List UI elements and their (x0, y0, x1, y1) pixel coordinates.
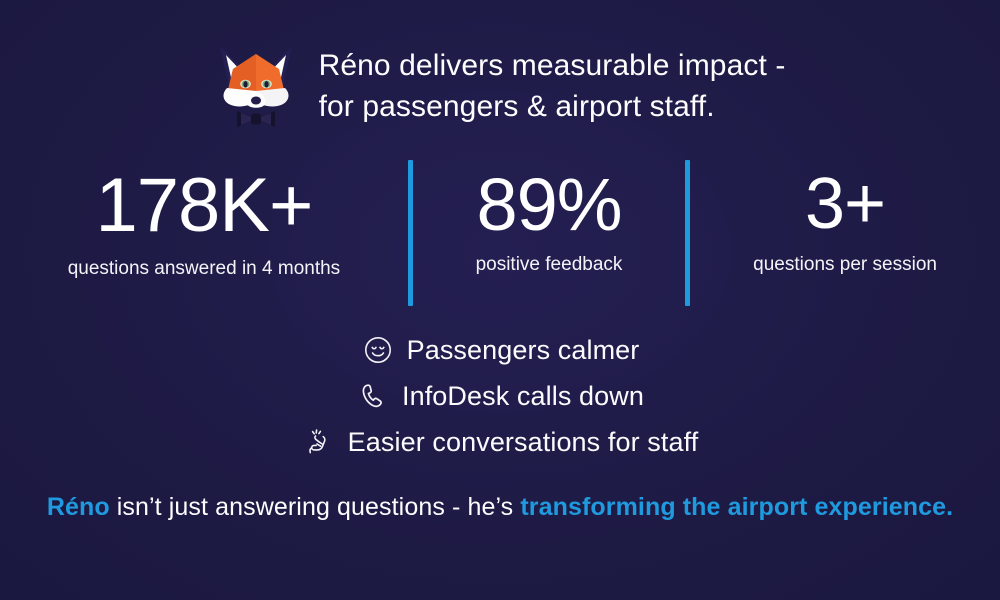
closing-middle: isn’t just answering questions - he’s (110, 493, 521, 521)
phone-handset-icon (356, 379, 390, 413)
infographic-slide: Réno delivers measurable impact - for pa… (0, 0, 1000, 600)
stat-value: 3+ (805, 168, 885, 240)
closing-statement: Réno isn’t just answering questions - he… (0, 492, 1000, 522)
stat-value: 178K+ (95, 168, 312, 244)
stats-row: 178K+ questions answered in 4 months 89%… (0, 158, 1000, 308)
stat-questions-per-session: 3+ questions per session (690, 158, 1000, 308)
stat-label: questions answered in 4 months (68, 258, 341, 280)
closing-emphasis: transforming the airport experience. (520, 493, 953, 521)
list-item-label: InfoDesk calls down (402, 381, 644, 412)
stat-positive-feedback: 89% positive feedback (413, 158, 685, 308)
reno-fox-mascot-logo (215, 42, 297, 130)
stat-value: 89% (476, 168, 621, 242)
snapping-fingers-icon (302, 425, 336, 459)
page-title: Réno delivers measurable impact - for pa… (319, 45, 786, 127)
closing-brand: Réno (47, 493, 110, 521)
list-item: InfoDesk calls down (356, 374, 644, 418)
list-item: Passengers calmer (361, 328, 640, 372)
stat-label: positive feedback (476, 254, 623, 276)
list-item-label: Passengers calmer (407, 335, 640, 366)
stat-questions-answered: 178K+ questions answered in 4 months (0, 158, 408, 308)
stat-label: questions per session (753, 254, 937, 276)
benefits-list: Passengers calmer InfoDesk calls down (0, 328, 1000, 464)
smiley-face-icon (361, 333, 395, 367)
header: Réno delivers measurable impact - for pa… (0, 42, 1000, 130)
list-item-label: Easier conversations for staff (348, 427, 699, 458)
list-item: Easier conversations for staff (302, 420, 699, 464)
